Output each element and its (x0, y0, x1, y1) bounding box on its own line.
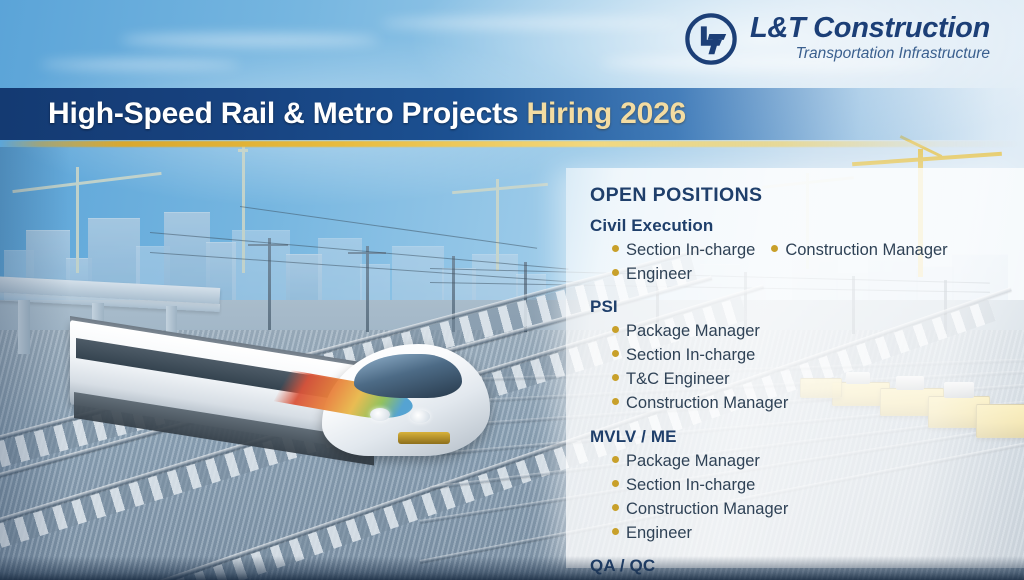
bullet-dot-icon (612, 480, 619, 487)
bullet-dot-icon (612, 374, 619, 381)
position-item[interactable]: T&C Engineer (612, 368, 730, 391)
position-row: Package Manager (590, 320, 1014, 343)
bullet-dot-icon (612, 350, 619, 357)
position-item[interactable]: Package Manager (612, 320, 760, 343)
open-positions-panel: OPEN POSITIONS Civil ExecutionSection In… (566, 168, 1024, 568)
position-row: Section In-charge (590, 344, 1014, 367)
position-item[interactable]: Construction Manager (771, 239, 947, 262)
position-group: PSIPackage ManagerSection In-chargeT&C E… (590, 297, 1014, 415)
position-item[interactable]: Construction Manager (612, 498, 788, 521)
position-item-label: Section In-charge (626, 239, 755, 262)
bullet-dot-icon (612, 504, 619, 511)
position-item[interactable]: Construction Manager (612, 392, 788, 415)
bullet-dot-icon (771, 245, 778, 252)
title-bar: High-Speed Rail & Metro Projects Hiring … (0, 88, 1024, 140)
position-item-label: Section In-charge (626, 474, 755, 497)
brand-division: Transportation Infrastructure (750, 44, 990, 63)
position-group-name: Civil Execution (590, 216, 1014, 236)
bullet-dot-icon (612, 528, 619, 535)
position-item-label: T&C Engineer (626, 368, 730, 391)
position-item-label: Engineer (626, 263, 692, 286)
high-speed-train (70, 292, 490, 472)
position-row: Construction Manager (590, 498, 1014, 521)
position-item[interactable]: Section In-charge (612, 344, 755, 367)
position-row: Section In-charge (590, 474, 1014, 497)
bullet-dot-icon (612, 245, 619, 252)
title-accent-text: Hiring 2026 (527, 97, 687, 130)
recruitment-poster: L&T Construction Transportation Infrastr… (0, 0, 1024, 580)
bottom-shade (0, 556, 1024, 580)
position-group-name: MVLV / ME (590, 427, 1014, 447)
position-item-label: Package Manager (626, 320, 760, 343)
position-row: Engineer (590, 263, 1014, 286)
headlight-icon (370, 408, 390, 421)
position-item[interactable]: Section In-charge (612, 239, 755, 262)
position-item-label: Section In-charge (626, 344, 755, 367)
position-row: Section In-chargeConstruction Manager (590, 239, 1014, 262)
headlight-icon (410, 410, 430, 423)
position-row: Package Manager (590, 450, 1014, 473)
bullet-dot-icon (612, 326, 619, 333)
title-main-text: High-Speed Rail & Metro Projects (48, 97, 518, 130)
position-item[interactable]: Package Manager (612, 450, 760, 473)
position-group-name: PSI (590, 297, 1014, 317)
position-group: MVLV / MEPackage ManagerSection In-charg… (590, 427, 1014, 545)
position-group: Civil ExecutionSection In-chargeConstruc… (590, 216, 1014, 286)
position-item[interactable]: Section In-charge (612, 474, 755, 497)
brand-logo-block: L&T Construction Transportation Infrastr… (684, 12, 990, 66)
position-row: T&C Engineer (590, 368, 1014, 391)
bullet-dot-icon (612, 398, 619, 405)
position-groups: Civil ExecutionSection In-chargeConstruc… (590, 216, 1014, 580)
position-item-label: Engineer (626, 522, 692, 545)
position-row: Construction Manager (590, 392, 1014, 415)
position-row: Engineer (590, 522, 1014, 545)
position-item[interactable]: Engineer (612, 263, 692, 286)
position-item-label: Construction Manager (626, 498, 788, 521)
lt-circle-logo-icon (684, 12, 738, 66)
position-item-label: Construction Manager (785, 239, 947, 262)
panel-heading: OPEN POSITIONS (590, 184, 1014, 207)
bullet-dot-icon (612, 269, 619, 276)
bullet-dot-icon (612, 456, 619, 463)
page-title: High-Speed Rail & Metro Projects Hiring … (48, 97, 686, 131)
position-item-label: Construction Manager (626, 392, 788, 415)
position-item[interactable]: Engineer (612, 522, 692, 545)
gold-divider-rule (0, 141, 1024, 147)
brand-name: L&T Construction (750, 13, 990, 43)
position-item-label: Package Manager (626, 450, 760, 473)
